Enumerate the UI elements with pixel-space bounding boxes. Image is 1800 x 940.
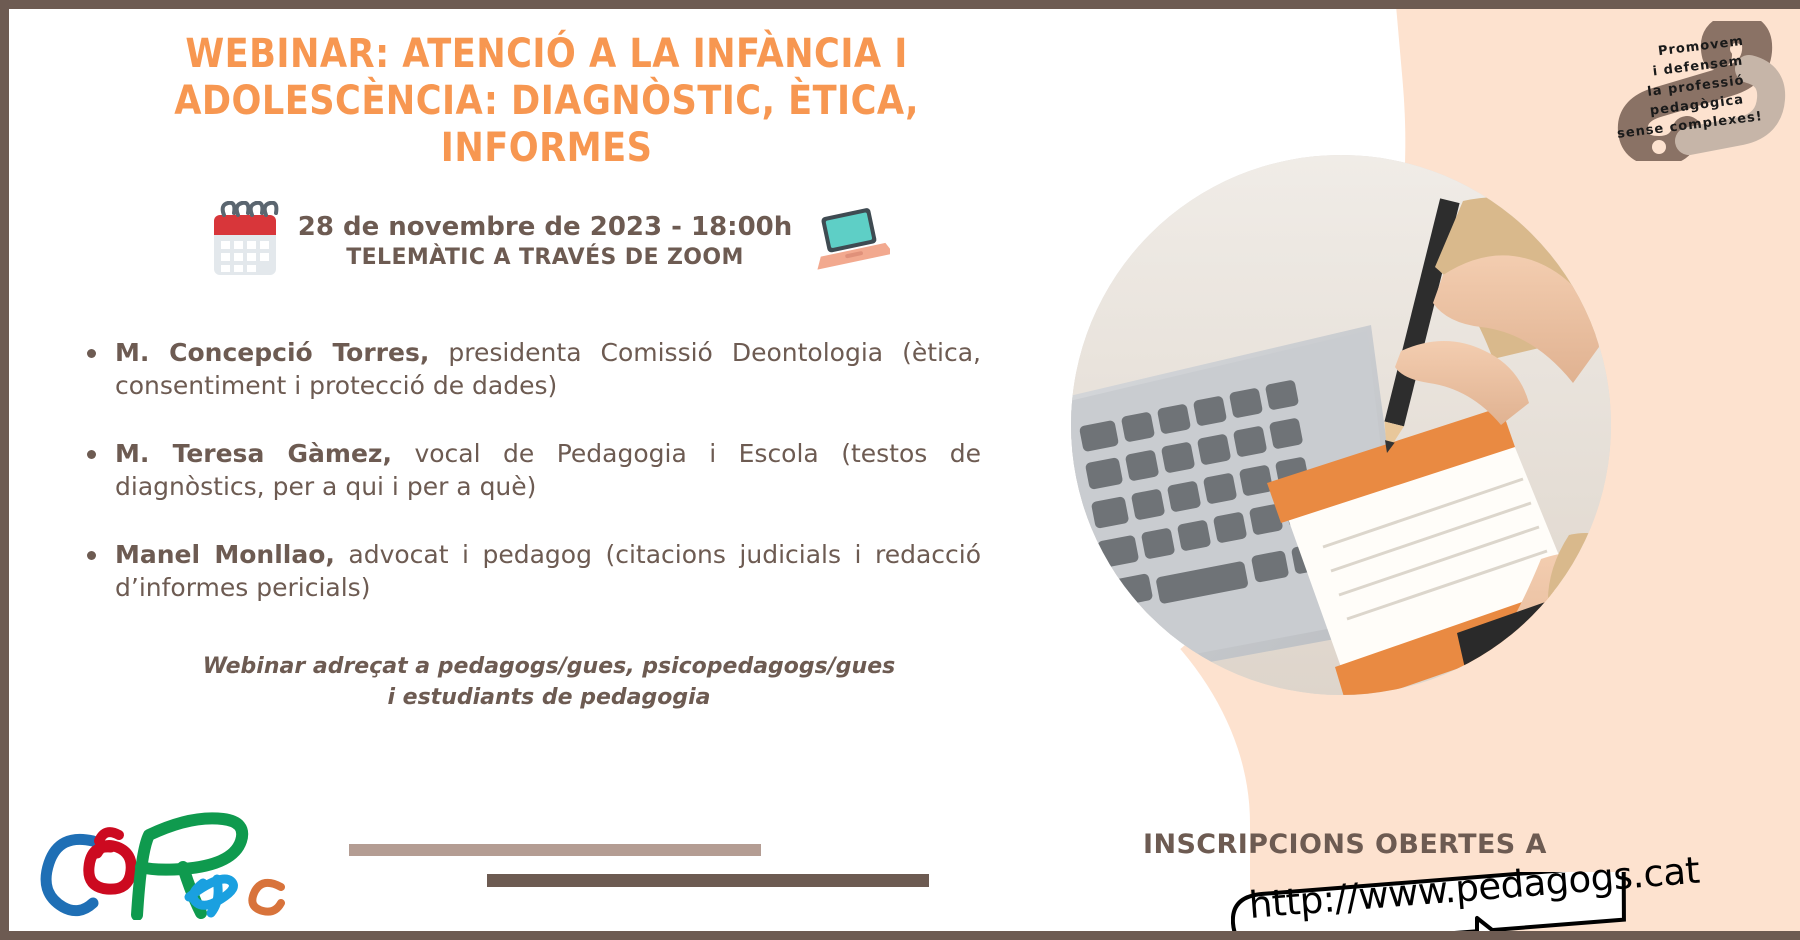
main-content: WEBINAR: ATENCIÓ A LA INFÀNCIA I ADOLESC… [9,9,1049,940]
audience-note-line-2: i estudiants de pedagogia [169,682,929,713]
url-button[interactable]: http://www.pedagogs.cat [1231,872,1651,940]
photo-hand-writing-notebook [1071,155,1611,695]
copec-logo-icon [37,805,307,920]
list-item: Manel Monllao, advocat i pedagog (citaci… [83,538,981,605]
title-line-1: WEBINAR: ATENCIÓ A LA INFÀNCIA I [159,31,933,78]
copec-logo[interactable] [37,805,307,920]
title-line-3: INFORMES [159,125,933,172]
photo-illustration [1071,155,1611,695]
speaker-name: M. Concepció Torres, [115,338,429,367]
audience-note: Webinar adreçat a pedagogs/gues, psicope… [9,651,1049,713]
audience-note-line-1: Webinar adreçat a pedagogs/gues, psicope… [169,651,929,682]
webinar-poster: Promovem i defensem la professió pedagòg… [0,0,1800,940]
calendar-icon [208,201,282,284]
datetime-text: 28 de novembre de 2023 - 18:00h TELEMÀTI… [298,211,793,273]
datetime-row: 28 de novembre de 2023 - 18:00h TELEMÀTI… [9,201,1049,284]
slogan-badge: Promovem i defensem la professió pedagòg… [1599,21,1789,161]
modality: TELEMÀTIC A TRAVÉS DE ZOOM [298,243,793,273]
title-line-2: ADOLESCÈNCIA: DIAGNÒSTIC, ÈTICA, [159,78,933,125]
speaker-list: M. Concepció Torres, presidenta Comissió… [9,336,1049,605]
date-time: 28 de novembre de 2023 - 18:00h [298,211,793,244]
bar-dark [487,874,929,887]
laptop-icon [812,204,890,281]
mouse-pointer-icon [1469,914,1531,940]
list-item: M. Teresa Gàmez, vocal de Pedagogia i Es… [83,437,981,504]
speaker-name: Manel Monllao, [115,540,335,569]
decorative-bars [349,838,989,894]
bar-light [349,844,761,856]
page-title: WEBINAR: ATENCIÓ A LA INFÀNCIA I ADOLESC… [71,31,986,173]
speaker-name: M. Teresa Gàmez, [115,439,392,468]
registration-block: INSCRIPCIONS OBERTES A http://www.pedago… [1119,829,1739,940]
slogan-text: Promovem i defensem la professió pedagòg… [1599,37,1789,136]
list-item: M. Concepció Torres, presidenta Comissió… [83,336,981,403]
